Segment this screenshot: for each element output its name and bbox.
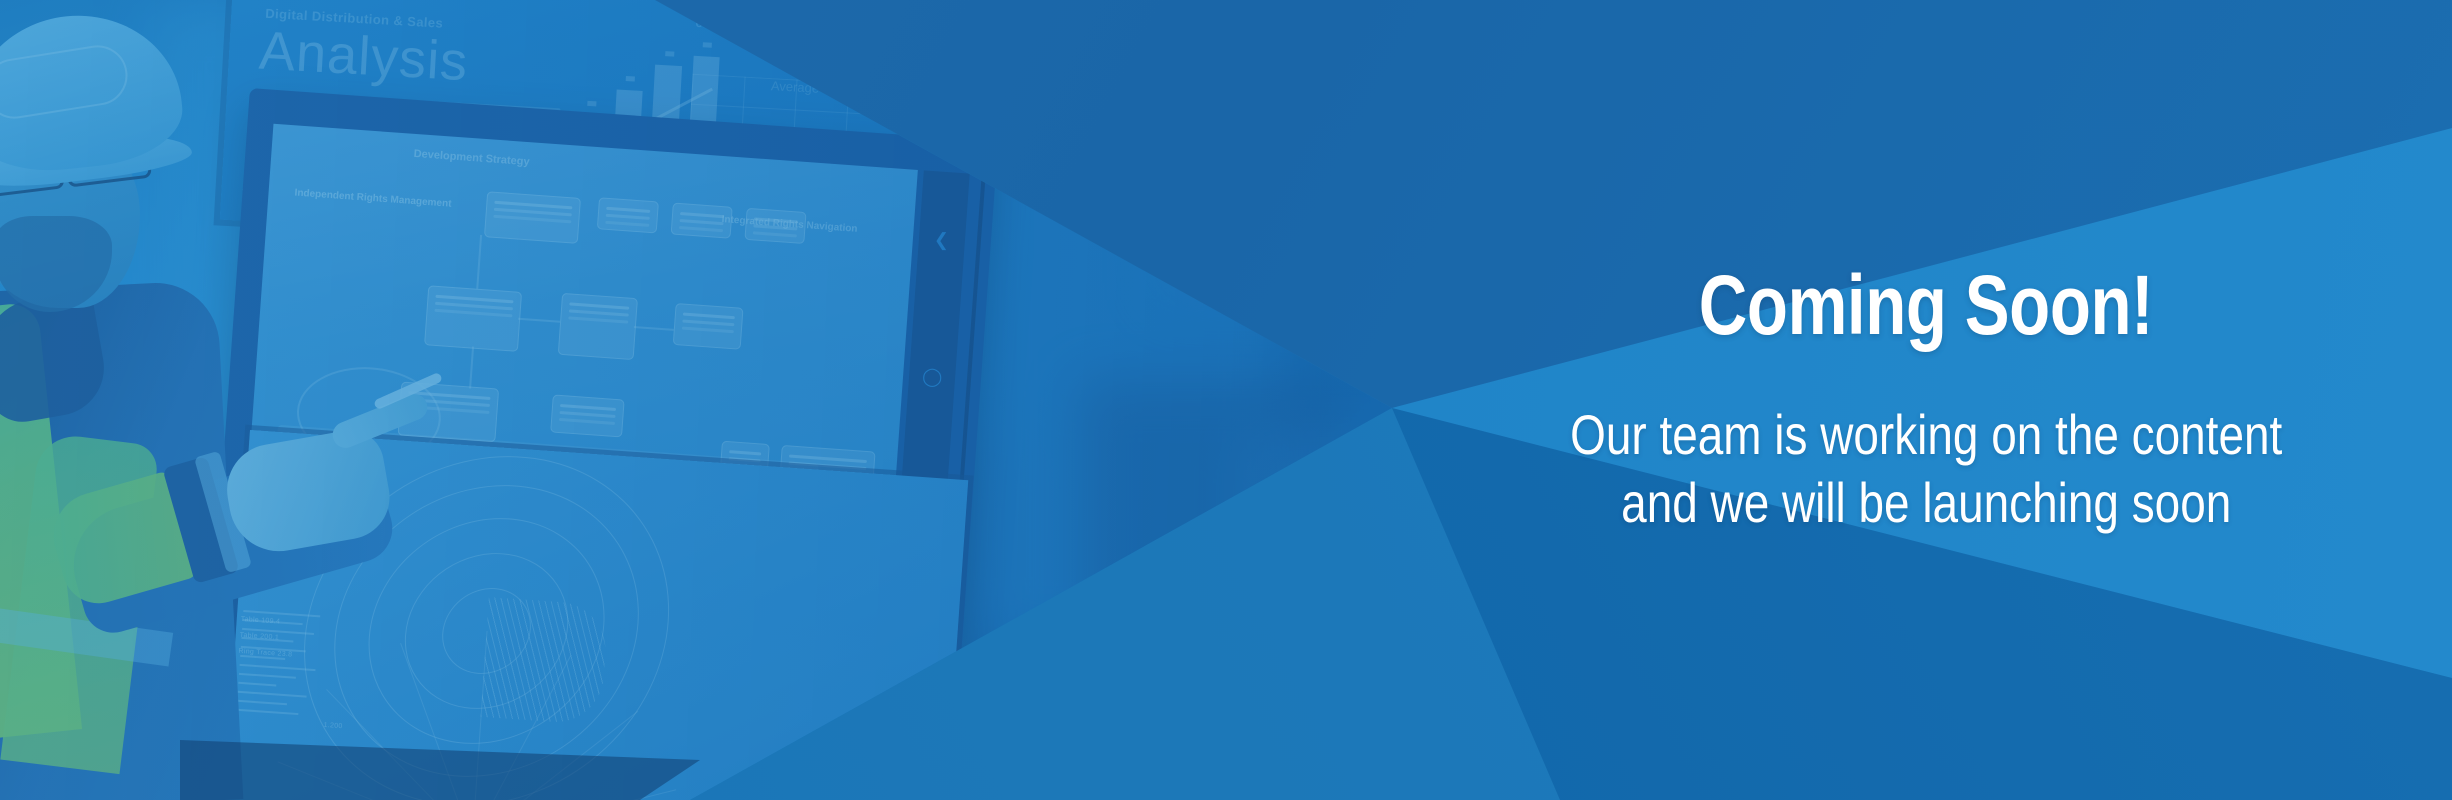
page-title: Coming Soon! [1699, 263, 2153, 347]
banner-subtitle: Our team is working on the content and w… [1570, 401, 2282, 538]
coming-soon-banner: Digital Distribution & Sales Analysis ▲▲… [0, 0, 2452, 800]
banner-text-block: Coming Soon! Our team is working on the … [1400, 0, 2452, 800]
banner-subtitle-line-2: and we will be launching soon [1570, 469, 2282, 537]
banner-subtitle-line-1: Our team is working on the content [1570, 403, 2282, 466]
